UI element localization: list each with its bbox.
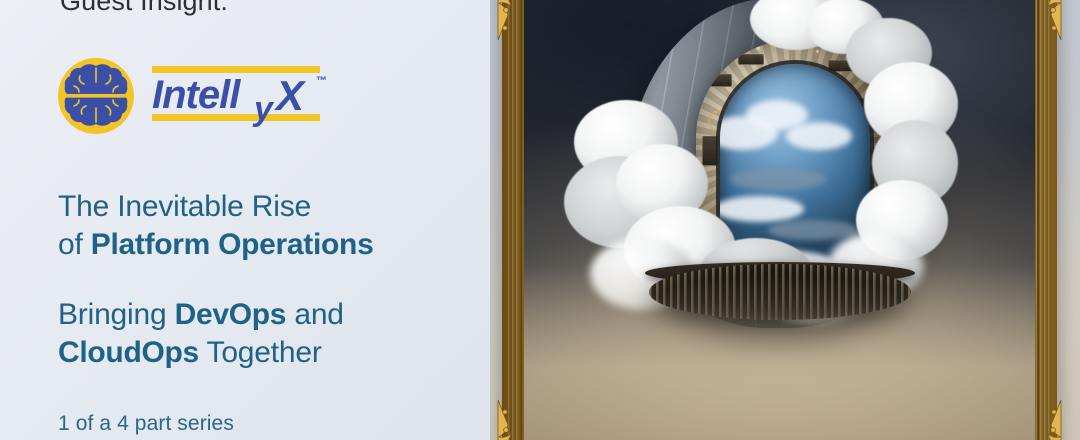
headline-line-1: The Inevitable Rise — [58, 188, 478, 226]
eyebrow-label: Guest Insight: — [60, 0, 228, 17]
intellyx-logo-lockup[interactable]: Intell y X ™ — [56, 56, 340, 136]
headline-block: The Inevitable Rise of Platform Operatio… — [58, 188, 478, 264]
subhead-line-2: CloudOps Together — [58, 334, 478, 372]
series-note: 1 of a 4 part series — [58, 412, 234, 436]
subhead-line-1: Bringing DevOps and — [58, 296, 478, 334]
svg-text:y: y — [252, 90, 275, 128]
guest-insight-banner: Guest Insight: — [0, 0, 1080, 440]
subhead-line-1-lead: Bringing — [58, 298, 175, 331]
brain-in-circle-icon — [56, 56, 136, 136]
svg-text:X: X — [274, 72, 307, 119]
subhead-line-2-tail: Together — [199, 336, 322, 369]
cloud-portal-artwork — [524, 0, 1035, 440]
gold-picture-frame — [502, 0, 1057, 440]
headline-line-2-bold: Platform Operations — [91, 228, 374, 261]
ground-glow — [524, 266, 1035, 440]
headline-line-1-text: The Inevitable Rise — [58, 190, 311, 223]
subhead-line-1-tail: and — [286, 298, 344, 331]
intellyx-wordmark: Intell y X ™ — [150, 62, 340, 130]
subhead-line-2-bold: CloudOps — [58, 336, 199, 369]
svg-text:™: ™ — [316, 75, 327, 87]
svg-text:Intell: Intell — [152, 73, 241, 117]
headline-line-2: of Platform Operations — [58, 226, 478, 264]
subhead-block: Bringing DevOps and CloudOps Together — [58, 296, 478, 372]
left-content-panel: Guest Insight: — [0, 0, 490, 440]
subhead-line-1-bold: DevOps — [175, 298, 287, 331]
artwork-panel — [490, 0, 1080, 440]
headline-line-2-lead: of — [58, 228, 91, 261]
